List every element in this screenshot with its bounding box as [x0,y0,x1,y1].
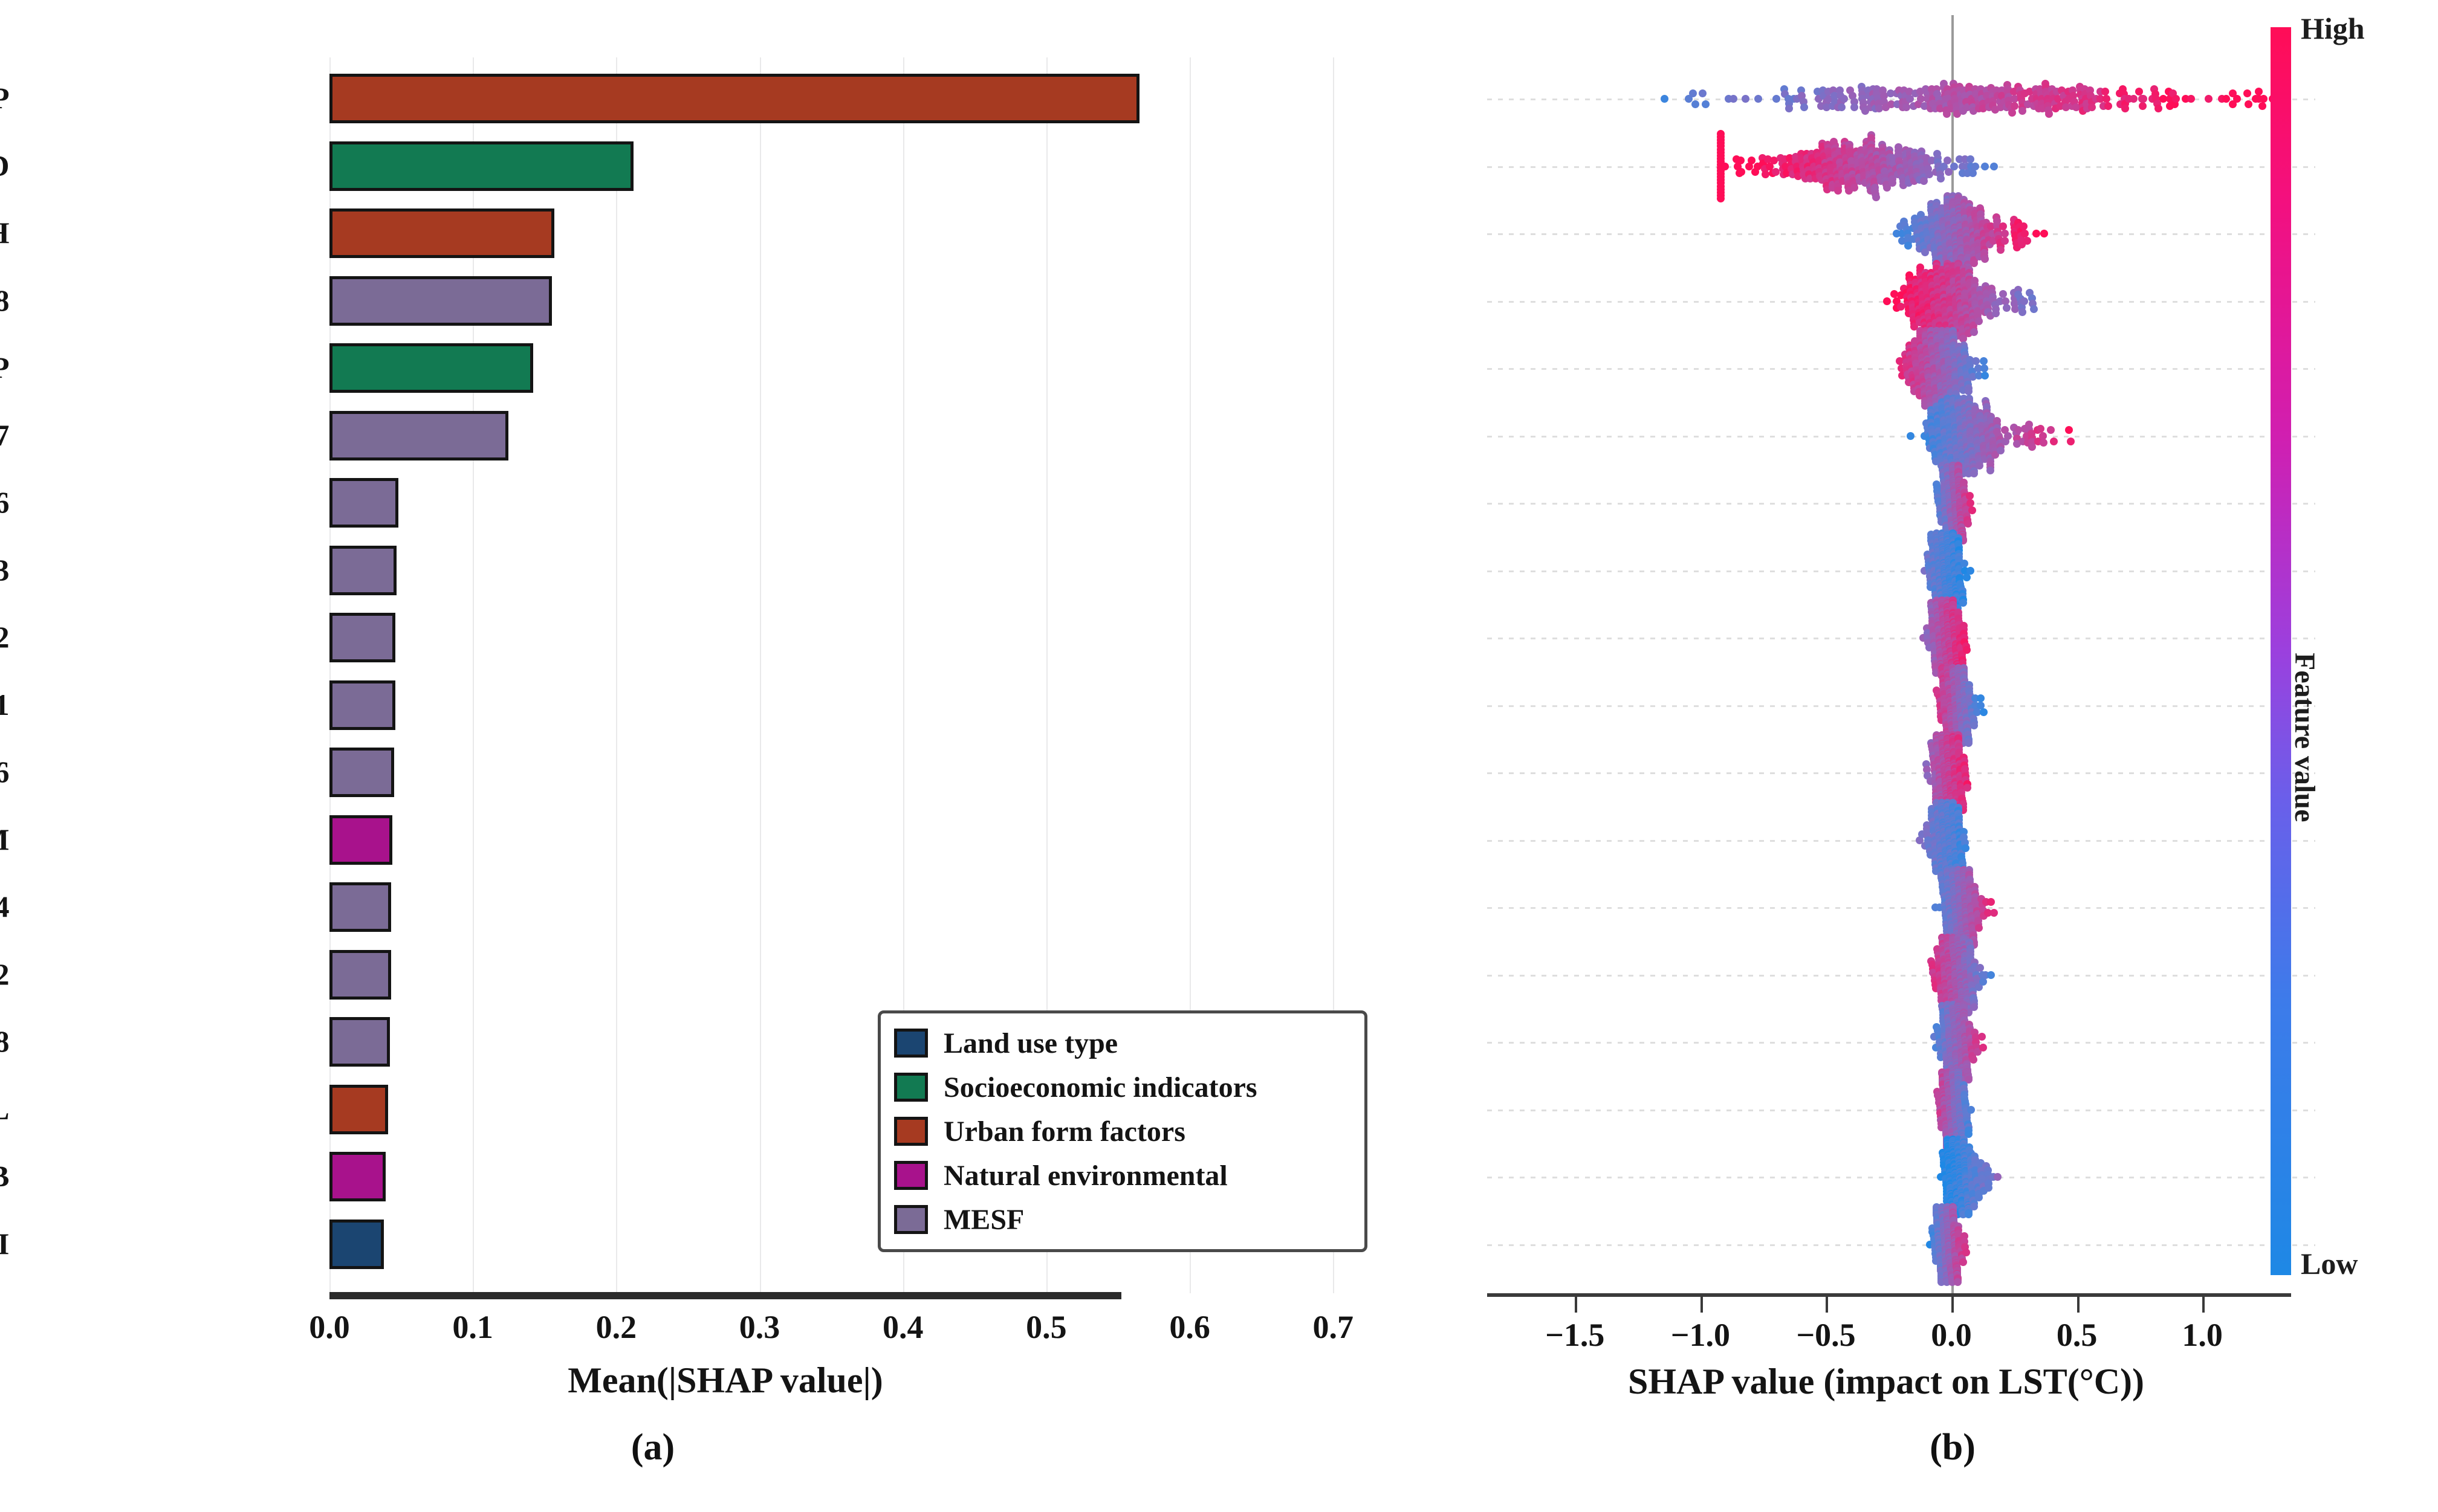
beeswarm-point [2045,110,2053,118]
bar-x-tick-label: 0.1 [424,1308,521,1346]
beeswarm-point [1990,163,1998,170]
beeswarm-point [1904,242,1912,250]
beeswarm-point [2003,304,2011,312]
beeswarm-point [2139,95,2147,103]
bar-row: MESF_7_7.8054 [0,882,1451,932]
bar [329,74,1140,123]
beeswarm-point [2047,426,2055,434]
bar-row: MESF_11_7.7216 [0,748,1451,797]
beeswarm-point [1691,100,1699,108]
beeswarm-point [1990,909,1998,917]
beeswarm-point [1920,177,1928,185]
beeswarm-point [1785,105,1793,112]
beeswarm-point [1997,246,2005,254]
beeswarm-point [1977,694,1985,702]
bar [329,141,634,191]
bar-row: NWB [0,1152,1451,1201]
bar-category-label: PD [0,148,9,183]
bar [329,411,508,460]
beeswarm-point [1966,155,1974,163]
beeswarm-point [1999,290,2007,298]
bar [329,546,397,595]
bar-category-label: MESF_35_7.3222 [0,619,9,654]
bar-category-label: NWB [0,1158,9,1194]
shap-figure: Mean(|SHAP value|) (a) Land use typeSoci… [0,0,2438,1512]
bar-category-label: GDP [0,350,9,385]
bar [329,1017,390,1067]
beeswarm-point [2139,102,2147,110]
beeswarm-point [2011,102,2018,110]
beeswarm-point [1888,179,1896,187]
beeswarm-point [2121,105,2129,112]
bar-row: BH [0,208,1451,258]
bar-row: DEM [0,815,1451,865]
bar-category-label: MESF_16_7.6391 [0,687,9,722]
beeswarm-point [2050,438,2058,445]
beeswarm-point [1963,646,1971,654]
beeswarm-point [2243,89,2251,97]
bar [329,276,552,326]
beeswarm-point [2088,103,2096,111]
bar-category-label: MESF_11_7.7216 [0,754,9,789]
bar-category-label: MESF_60_6.9373 [0,552,9,587]
bar-row: MESF_1_7.9318 [0,276,1451,326]
bar-x-tick-label: 0.7 [1285,1308,1381,1346]
bar-row: GDP [0,343,1451,393]
beeswarm-point [2172,95,2180,103]
beeswarm-point [1902,103,1910,111]
beeswarm-point [1950,163,1958,170]
bar-x-tick-label: 0.4 [855,1308,952,1346]
beeswarm-point [1979,978,1987,986]
beeswarm-point [1966,567,1974,575]
bar-row: NDVI [0,1220,1451,1269]
beeswarm-point [2187,95,2195,103]
bar-row: MESF_21_7.5482 [0,950,1451,1000]
beeswarm-point [1850,103,1858,111]
bar-x-tick-label: 0.2 [568,1308,664,1346]
beeswarm-point [2037,425,2044,433]
bar-row: MESF_4_7.8688 [0,1017,1451,1067]
beeswarm-point [1980,708,1988,716]
bar-category-label: ISP [0,80,9,115]
beeswarm-plot-area [1487,57,2315,1293]
bar-category-label: RL [0,1091,9,1126]
bar-row: PD [0,141,1451,191]
bar-category-label: NDVI [0,1226,9,1261]
beeswarm-point [1966,499,1974,507]
beeswarm-point [2065,426,2073,434]
beeswarm-point [1661,95,1668,103]
bar [329,882,391,932]
beeswarm-point [2018,308,2026,316]
beeswarm-point [1968,506,1976,514]
bar-x-axis-label: Mean(|SHAP value|) [329,1360,1121,1401]
bar-row: MESF_148_5.7046 [0,478,1451,528]
beeswarm-point [2260,95,2268,103]
bar-category-label: MESF_148_5.7046 [0,485,9,520]
beeswarm-point [1840,95,1848,103]
beeswarm-point [2205,95,2213,103]
beeswarm-point [2067,438,2075,445]
beeswarm-point [1971,163,1979,170]
bar [329,343,533,393]
bar-category-label: MESF_7_7.8054 [0,889,9,924]
bar-x-tick-label: 0.0 [281,1308,378,1346]
beeswarm-point [2032,230,2040,237]
bar [329,1085,388,1134]
beeswarm-point [2004,432,2012,440]
beeswarm-point [2233,95,2241,103]
bar [329,815,392,865]
beeswarm-point [1969,169,1977,177]
beeswarm-point [2102,95,2110,103]
beeswarm-point [1689,89,1697,97]
bar-category-label: BH [0,215,9,250]
beeswarm-point [2245,100,2252,108]
bar-x-tick-label: 0.6 [1141,1308,1238,1346]
beeswarm-point [1976,964,1984,972]
bar [329,613,395,662]
beeswarm-point [2018,107,2026,115]
beeswarm-point [2104,102,2112,110]
beeswarm-point [2258,102,2266,110]
beeswarm-point [2130,95,2138,103]
beeswarm-point [2040,439,2047,447]
panel-a-bar-chart: Mean(|SHAP value|) (a) Land use typeSoci… [0,0,1433,1512]
beeswarm-point [2023,237,2031,245]
beeswarm-point [1981,372,1989,380]
bar [329,748,394,797]
bar-row: ISP [0,74,1451,123]
beeswarm-point [2001,237,2009,245]
bar-category-label: MESF_27_7.4567 [0,418,9,453]
beeswarm-point [1963,784,1971,792]
beeswarm-point [1987,971,1995,979]
beeswarm-point [1944,157,1951,164]
beeswarm-point [1981,163,1989,170]
beeswarm-point [1962,844,1970,852]
beeswarm-point [1721,163,1729,170]
bar-row: MESF_16_7.6391 [0,680,1451,730]
panel-a-caption: (a) [568,1426,738,1469]
bar [329,1152,386,1201]
beeswarm-point [1987,898,1995,906]
beeswarm-point [2154,105,2162,112]
beeswarm-point [2020,297,2028,305]
bar-row: RL [0,1085,1451,1134]
beeswarm-point [2040,230,2048,237]
beeswarm-point [1907,432,1914,440]
bar [329,208,554,258]
bar-category-label: MESF_4_7.8688 [0,1024,9,1059]
bar-row: MESF_60_6.9373 [0,546,1451,595]
beeswarm-point [1742,95,1749,103]
beeswarm-point [1992,309,2000,317]
bar-category-label: MESF_21_7.5482 [0,957,9,992]
bar-row: MESF_27_7.4567 [0,411,1451,460]
beeswarm-point [1937,175,1945,183]
beeswarm-point [1838,103,1846,111]
bar [329,950,391,1000]
beeswarm-point [1772,95,1780,103]
bar-row: MESF_35_7.3222 [0,613,1451,662]
bar [329,478,398,528]
beeswarm-point [1963,573,1971,581]
beeswarm-point [1737,157,1745,164]
beeswarm-point [1702,100,1710,108]
beeswarm-point [1737,168,1745,176]
bar [329,680,395,730]
bar-category-label: DEM [0,822,9,857]
bar-category-label: MESF_1_7.9318 [0,283,9,318]
beeswarm-point [1997,447,2005,454]
beeswarm-point [1754,95,1762,103]
beeswarm-point [1883,297,1891,305]
beeswarm-point [1730,95,1737,103]
bar [329,1220,384,1269]
bar-x-tick-label: 0.3 [712,1308,808,1346]
beeswarm-point [1699,89,1707,97]
beeswarm-point [1800,103,1808,111]
beeswarm-point [1960,560,1968,567]
beeswarm-point [2030,305,2038,313]
bar-x-axis-line [329,1292,1121,1299]
bar-x-tick-label: 0.5 [998,1308,1095,1346]
